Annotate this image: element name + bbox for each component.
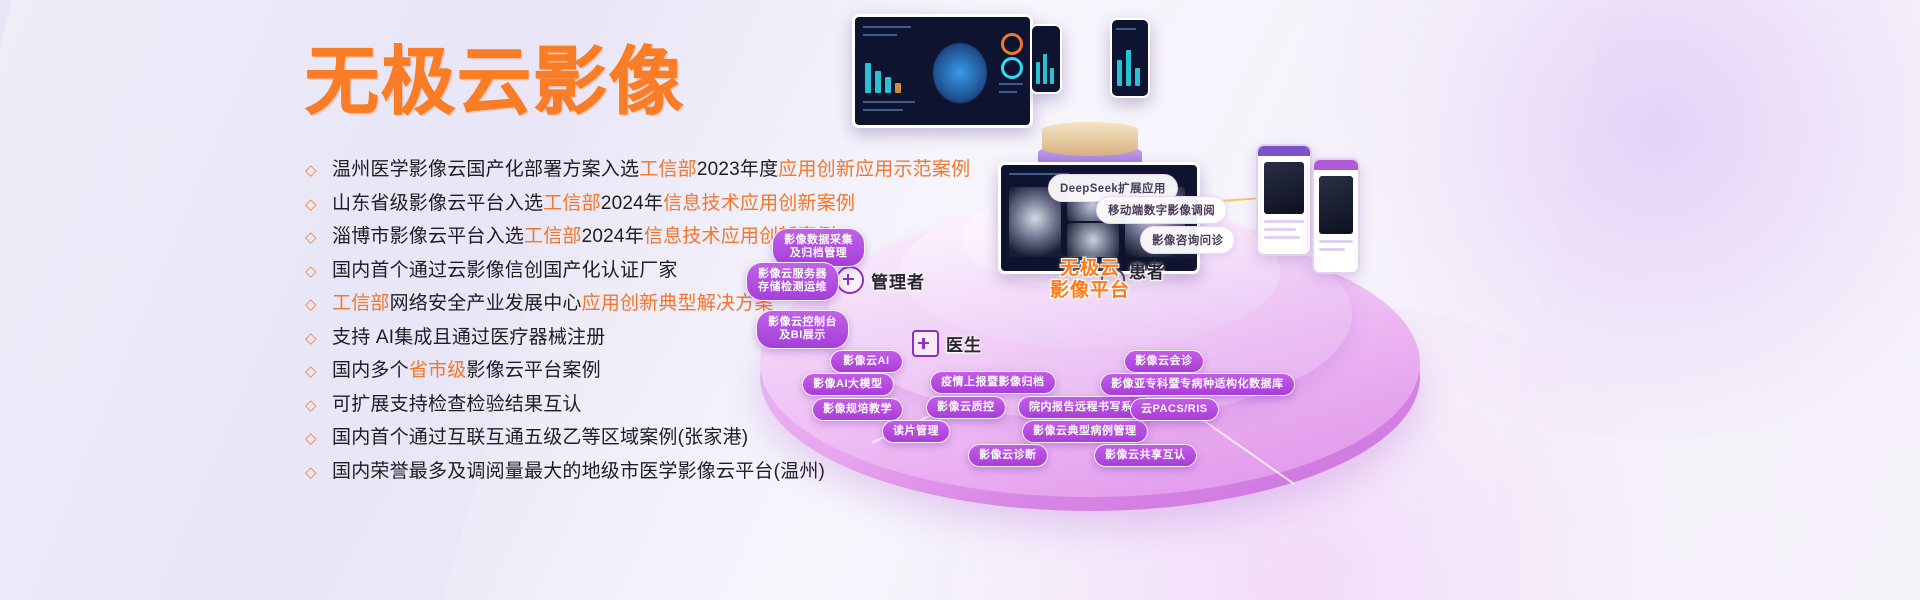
diamond-bullet-icon: ◇ xyxy=(305,322,325,356)
center-label-line1: 无极云 xyxy=(1026,258,1154,280)
bullet-text: 2024年 xyxy=(601,187,663,221)
platform-diagram: DeepSeek扩展应用 移动端数字影像调阅 影像咨询问诊 管理者 医生 患者 … xyxy=(700,0,1920,600)
bullet-text: 国内多个 xyxy=(332,354,409,388)
diamond-bullet-icon: ◇ xyxy=(305,154,325,188)
pill-typical-case-management[interactable]: 影像云典型病例管理 xyxy=(1022,420,1148,443)
pill-line1: 疫情上报暨影像归档 xyxy=(941,376,1045,389)
diamond-bullet-icon: ◇ xyxy=(305,355,325,389)
role-doctor[interactable]: 医生 xyxy=(912,330,982,357)
bullet-highlight-text: 工信部 xyxy=(543,187,601,221)
pill-line1: 云PACS/RIS xyxy=(1141,403,1208,416)
role-label: 医生 xyxy=(946,331,982,356)
bullet-text: 支持 AI集成且通过医疗器械注册 xyxy=(332,321,605,355)
center-platform-label: 无极云 影像平台 xyxy=(1026,258,1154,303)
bullet-text: 网络安全产业发展中心 xyxy=(390,287,582,321)
dashboard-screen-side-left xyxy=(1030,24,1062,94)
pill-line1: 影像亚专科暨专病种适构化数据库 xyxy=(1111,378,1284,391)
pill-line1: 影像AI大模型 xyxy=(813,378,883,391)
pill-line1: 影像云控制台 xyxy=(768,316,837,329)
pill-cloud-sharing-mutual[interactable]: 影像云共享互认 xyxy=(1094,444,1197,467)
bullet-highlight-text: 工信部 xyxy=(332,287,390,321)
role-administrator[interactable]: 管理者 xyxy=(836,266,925,294)
pill-cloud-pacs-ris[interactable]: 云PACS/RIS xyxy=(1130,398,1219,421)
pill-cloud-consultation[interactable]: 影像云会诊 xyxy=(1124,350,1204,373)
plus-circle-icon xyxy=(836,266,864,294)
pill-line1: 影像云AI xyxy=(843,355,890,368)
patient-phone-right xyxy=(1312,158,1360,274)
pill-console-bi[interactable]: 影像云控制台 及BI展示 xyxy=(756,310,849,349)
chip-consult[interactable]: 影像咨询问诊 xyxy=(1140,226,1235,254)
bullet-text: 影像云平台案例 xyxy=(466,354,600,388)
pill-line1: 影像云会诊 xyxy=(1135,355,1193,368)
dashboard-screen-main xyxy=(852,14,1033,128)
bullet-text: 2024年 xyxy=(582,220,644,254)
pill-line1: 影像云诊断 xyxy=(979,449,1037,462)
dashboard-screen-side-right xyxy=(1110,18,1150,98)
pill-image-data-collection[interactable]: 影像数据采集 及归档管理 xyxy=(772,228,865,267)
pill-cloud-ai[interactable]: 影像云AI xyxy=(830,350,903,373)
bullet-text: 国内首个通过互联互通五级乙等区域案例(张家港) xyxy=(332,421,748,455)
pill-line1: 影像云典型病例管理 xyxy=(1033,425,1137,438)
center-label-line2: 影像平台 xyxy=(1026,280,1154,302)
pill-cloud-diagnosis[interactable]: 影像云诊断 xyxy=(968,444,1048,467)
bullet-highlight-text: 省市级 xyxy=(409,354,467,388)
patient-phone-left xyxy=(1256,144,1312,256)
role-label: 管理者 xyxy=(871,268,925,293)
pill-line1: 读片管理 xyxy=(893,425,939,438)
pill-line1: 影像规培教学 xyxy=(823,403,892,416)
stack-layer xyxy=(1042,122,1138,156)
pill-line2: 及BI展示 xyxy=(768,329,837,342)
pill-line1: 院内报告远程书写系统 xyxy=(1029,401,1144,414)
pill-line2: 及归档管理 xyxy=(784,247,853,260)
pill-training-education[interactable]: 影像规培教学 xyxy=(812,398,903,421)
pill-line2: 存储检测运维 xyxy=(758,281,827,294)
pill-ai-large-model[interactable]: 影像AI大模型 xyxy=(802,373,894,396)
page-title: 无极云影像 xyxy=(305,22,685,129)
bullet-text: 可扩展支持检查检验结果互认 xyxy=(332,388,582,422)
bullet-text: 淄博市影像云平台入选 xyxy=(332,220,524,254)
bullet-text: 温州医学影像云国产化部署方案入选 xyxy=(332,153,639,187)
bullet-text: 山东省级影像云平台入选 xyxy=(332,187,543,221)
promo-banner: 无极云影像 ◇温州医学影像云国产化部署方案入选工信部2023年度应用创新应用示范… xyxy=(0,0,1920,600)
diamond-bullet-icon: ◇ xyxy=(305,221,325,255)
diamond-bullet-icon: ◇ xyxy=(305,255,325,289)
diamond-bullet-icon: ◇ xyxy=(305,288,325,322)
diamond-bullet-icon: ◇ xyxy=(305,456,325,490)
bullet-highlight-text: 工信部 xyxy=(639,153,697,187)
diamond-bullet-icon: ◇ xyxy=(305,422,325,456)
pill-server-storage-ops[interactable]: 影像云服务器 存储检测运维 xyxy=(746,262,839,301)
pill-line1: 影像数据采集 xyxy=(784,234,853,247)
bullet-text: 国内首个通过云影像信创国产化认证厂家 xyxy=(332,254,678,288)
pill-epidemic-report-archive[interactable]: 疫情上报暨影像归档 xyxy=(930,371,1056,394)
bullet-highlight-text: 工信部 xyxy=(524,220,582,254)
pill-reading-management[interactable]: 读片管理 xyxy=(882,420,950,443)
pill-subspecialty-database[interactable]: 影像亚专科暨专病种适构化数据库 xyxy=(1100,373,1295,396)
pill-quality-control[interactable]: 影像云质控 xyxy=(926,396,1006,419)
chip-mobile-viewer[interactable]: 移动端数字影像调阅 xyxy=(1096,196,1227,224)
pill-line1: 影像云共享互认 xyxy=(1105,449,1186,462)
pill-line1: 影像云服务器 xyxy=(758,268,827,281)
pill-line1: 影像云质控 xyxy=(937,401,995,414)
diamond-bullet-icon: ◇ xyxy=(305,389,325,423)
diamond-bullet-icon: ◇ xyxy=(305,188,325,222)
plus-box-icon xyxy=(912,330,939,357)
